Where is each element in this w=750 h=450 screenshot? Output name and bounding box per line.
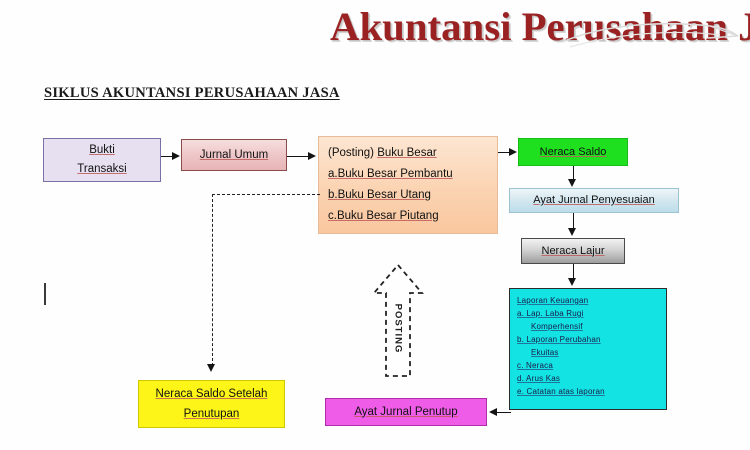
connector-laporan-to-ajpenutup bbox=[497, 412, 511, 413]
neraca-saldo-label: Neraca Saldo bbox=[519, 145, 627, 160]
bukti-transaksi-line1: Bukti bbox=[44, 141, 160, 160]
text-cursor-artifact bbox=[44, 283, 46, 305]
ayat-jurnal-penutup-label: Ayat Jurnal Penutup bbox=[326, 405, 486, 420]
flow-box-ayat-jurnal-penutup[interactable]: Ayat Jurnal Penutup bbox=[325, 398, 487, 426]
connector-ajp-to-neracalajur bbox=[573, 213, 574, 229]
dashed-connector-vertical bbox=[212, 194, 213, 366]
nssp-line2: Penutupan bbox=[139, 404, 284, 424]
arrowhead-neracasaldo-to-ajp bbox=[568, 179, 576, 187]
buku-besar-heading-underlined: Buku Besar bbox=[377, 147, 436, 159]
arrowhead-bukubesar-to-neracasaldo bbox=[509, 148, 517, 156]
flow-box-neraca-saldo[interactable]: Neraca Saldo bbox=[518, 138, 628, 166]
dashed-connector-horizontal bbox=[212, 194, 320, 195]
nssp-line1: Neraca Saldo Setelah bbox=[139, 384, 284, 404]
neraca-lajur-label: Neraca Lajur bbox=[522, 244, 624, 259]
laporan-keuangan-item-0: a. Lap. Laba Rugi bbox=[517, 307, 660, 320]
laporan-keuangan-item-3: Ekuitas bbox=[517, 346, 660, 359]
bukti-transaksi-line2: Transaksi bbox=[44, 160, 160, 179]
arrowhead-neracalajur-to-laporan bbox=[568, 278, 576, 286]
flow-box-buku-besar[interactable]: (Posting) Buku Besar a.Buku Besar Pemban… bbox=[318, 136, 498, 234]
arrowhead-jurnal-to-bukubesar bbox=[308, 152, 316, 160]
buku-besar-item-2: c.Buku Besar Piutang bbox=[328, 206, 489, 227]
laporan-keuangan-item-2: b. Laporan Perubahan bbox=[517, 333, 660, 346]
connector-neracasaldo-to-ajp bbox=[573, 166, 574, 180]
section-heading: SIKLUS AKUNTANSI PERUSAHAAN JASA bbox=[44, 85, 340, 102]
laporan-keuangan-item-5: d. Arus Kas bbox=[517, 372, 660, 385]
buku-besar-item-0: a.Buku Besar Pembantu bbox=[328, 164, 489, 185]
laporan-keuangan-item-6: e. Catatan atas laporan bbox=[517, 385, 660, 398]
slide-canvas: Akuntansi Perusahaan Jasa SIKLUS AKUNTAN… bbox=[0, 0, 750, 450]
flow-box-neraca-saldo-setelah-penutupan[interactable]: Neraca Saldo Setelah Penutupan bbox=[138, 380, 285, 428]
connector-jurnal-to-bukubesar bbox=[287, 156, 309, 157]
connector-neracalajur-to-laporan bbox=[573, 264, 574, 278]
page-title: Akuntansi Perusahaan Jasa bbox=[330, 4, 748, 50]
buku-besar-item-1: b.Buku Besar Utang bbox=[328, 185, 489, 206]
flow-box-laporan-keuangan[interactable]: Laporan Keuangan a. Lap. Laba Rugi Kompe… bbox=[509, 288, 667, 410]
flow-box-neraca-lajur[interactable]: Neraca Lajur bbox=[521, 238, 625, 264]
arrowhead-laporan-to-ajpenutup bbox=[489, 408, 497, 416]
arrowhead-dashed-to-nssp bbox=[207, 364, 215, 372]
flow-box-ayat-jurnal-penyesuaian[interactable]: Ayat Jurnal Penyesuaian bbox=[509, 188, 679, 213]
jurnal-umum-label: Jurnal Umum bbox=[182, 148, 286, 163]
laporan-keuangan-heading: Laporan Keuangan bbox=[517, 294, 660, 307]
laporan-keuangan-item-4: c. Neraca bbox=[517, 359, 660, 372]
buku-besar-heading: (Posting) Buku Besar bbox=[328, 143, 489, 164]
posting-block-arrow bbox=[371, 262, 425, 380]
flow-box-bukti-transaksi[interactable]: Bukti Transaksi bbox=[43, 138, 161, 182]
ayat-jurnal-penyesuaian-label: Ayat Jurnal Penyesuaian bbox=[510, 193, 678, 208]
laporan-keuangan-item-1: Komperhensif bbox=[517, 320, 660, 333]
flow-box-jurnal-umum[interactable]: Jurnal Umum bbox=[181, 139, 287, 171]
arrowhead-bukti-to-jurnal bbox=[172, 152, 180, 160]
arrowhead-ajp-to-neracalajur bbox=[568, 228, 576, 236]
